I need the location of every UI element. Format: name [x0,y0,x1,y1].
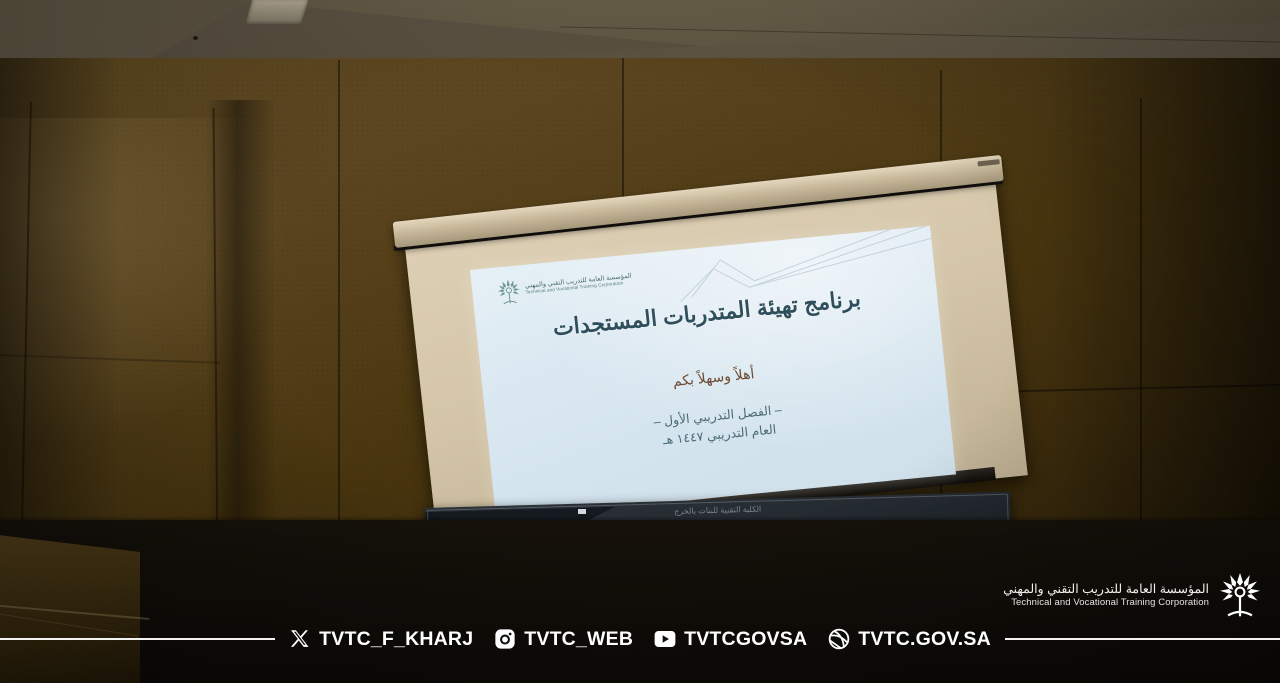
projector-screen: المؤسسة العامة للتدريب التقني والمهني Te… [394,150,1014,545]
social-items: TVTC_F_KHARJ TVTC_WEB TVTCGOVSA [289,628,991,651]
social-rule-right [1005,638,1280,640]
social-handle-website[interactable]: TVTC.GOV.SA [858,628,991,651]
youtube-icon[interactable] [654,628,676,650]
slide-tvtc-logo: المؤسسة العامة للتدريب التقني والمهني Te… [495,263,647,307]
screen-roller-brand-plate [977,159,999,166]
watermark-arabic: المؤسسة العامة للتدريب التقني والمهني [1003,582,1209,597]
social-item-website[interactable]: TVTC.GOV.SA [828,628,991,651]
social-item-x[interactable]: TVTC_F_KHARJ [289,628,473,651]
instagram-icon[interactable] [494,628,516,650]
social-media-bar: TVTC_F_KHARJ TVTC_WEB TVTCGOVSA [0,625,1280,653]
social-handle-x[interactable]: TVTC_F_KHARJ [319,628,473,651]
watermark-english: Technical and Vocational Training Corpor… [1011,597,1209,608]
social-item-youtube[interactable]: TVTCGOVSA [654,628,807,651]
ceiling-vent [245,0,308,24]
tvtc-starburst-logo-icon [1218,572,1262,618]
x-twitter-icon[interactable] [289,628,311,650]
board-indicator-led [578,509,586,514]
social-item-instagram[interactable]: TVTC_WEB [494,628,633,651]
projected-slide: المؤسسة العامة للتدريب التقني والمهني Te… [470,226,956,519]
photo-scene: المؤسسة العامة للتدريب التقني والمهني Te… [0,0,1280,683]
globe-website-icon[interactable] [828,628,850,650]
social-handle-instagram[interactable]: TVTC_WEB [524,628,633,651]
social-rule-left [0,638,275,640]
social-handle-youtube[interactable]: TVTCGOVSA [684,628,807,651]
tvtc-starburst-logo-icon [495,277,523,306]
ceiling-sensor-dot [193,36,198,40]
tvtc-watermark: المؤسسة العامة للتدريب التقني والمهني Te… [1003,572,1262,618]
